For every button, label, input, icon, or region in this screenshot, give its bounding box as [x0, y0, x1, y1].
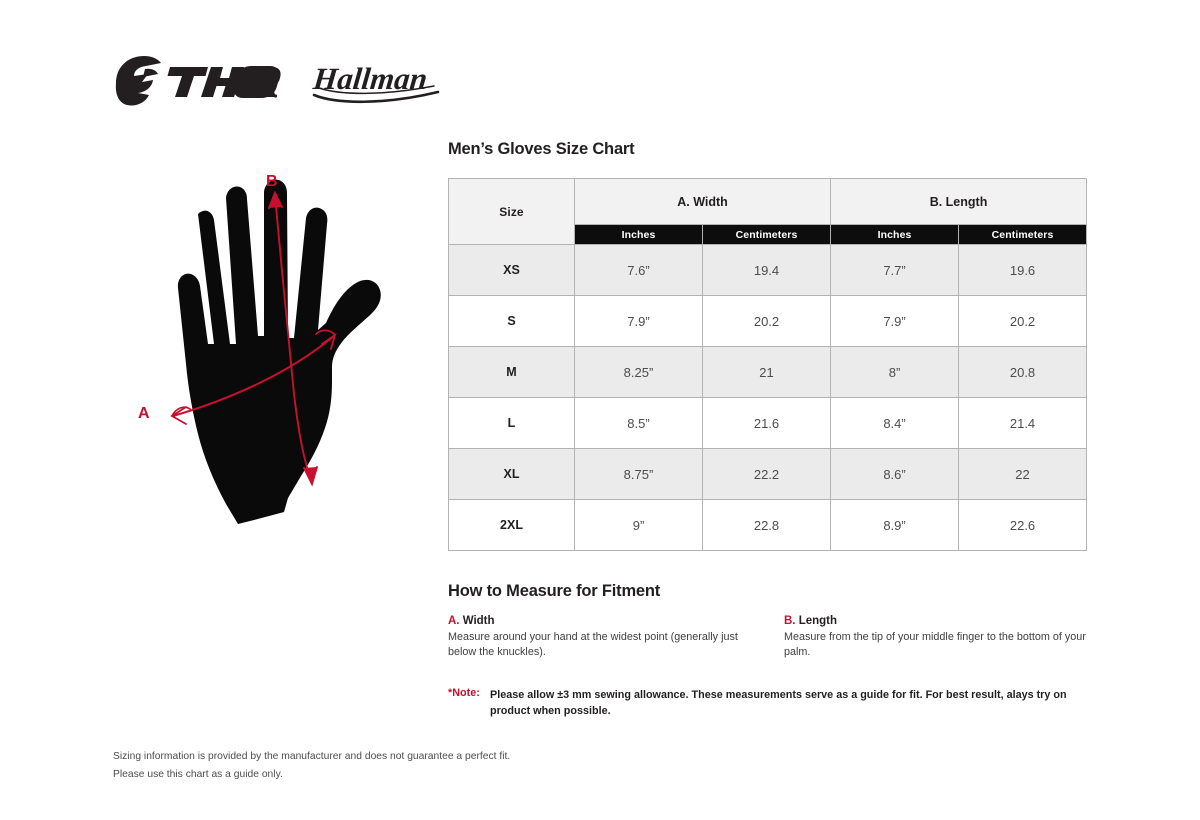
- cell-size: 2XL: [449, 500, 575, 551]
- size-chart-content: Men’s Gloves Size Chart Size A. Width B.…: [448, 140, 1088, 719]
- table-row: XS 7.6” 19.4 7.7” 19.6: [449, 245, 1087, 296]
- measure-name-width: Width: [463, 615, 495, 627]
- column-header-width-centimeters: Centimeters: [703, 225, 831, 245]
- cell-width-centimeters: 22.8: [703, 500, 831, 551]
- column-header-length-centimeters: Centimeters: [959, 225, 1087, 245]
- cell-width-centimeters: 19.4: [703, 245, 831, 296]
- measure-item-heading: B. Length: [784, 615, 1086, 627]
- measure-marker-a: A.: [448, 615, 460, 627]
- cell-width-centimeters: 20.2: [703, 296, 831, 347]
- diagram-label-a: A: [138, 405, 150, 422]
- diagram-label-b: B: [266, 173, 278, 190]
- column-group-header-length: B. Length: [831, 179, 1087, 225]
- cell-length-centimeters: 22: [959, 449, 1087, 500]
- cell-length-centimeters: 22.6: [959, 500, 1087, 551]
- table-row: S 7.9” 20.2 7.9” 20.2: [449, 296, 1087, 347]
- hand-measurement-diagram: A B: [118, 168, 430, 536]
- footer-disclaimer: Sizing information is provided by the ma…: [113, 748, 673, 783]
- cell-length-centimeters: 19.6: [959, 245, 1087, 296]
- hand-silhouette: [178, 180, 381, 524]
- brand-logo-bar: Hallman: [112, 50, 512, 112]
- footer-line-1: Sizing information is provided by the ma…: [113, 748, 673, 766]
- table-row: 2XL 9” 22.8 8.9” 22.6: [449, 500, 1087, 551]
- table-row: M 8.25” 21 8” 20.8: [449, 347, 1087, 398]
- cell-length-centimeters: 20.2: [959, 296, 1087, 347]
- measure-description-length: Measure from the tip of your middle fing…: [784, 630, 1086, 661]
- cell-length-inches: 8.4”: [831, 398, 959, 449]
- thor-helmet-icon: [112, 53, 288, 109]
- cell-length-centimeters: 21.4: [959, 398, 1087, 449]
- table-row: XL 8.75” 22.2 8.6” 22: [449, 449, 1087, 500]
- how-to-measure-section: How to Measure for Fitment A. Width Meas…: [448, 582, 1088, 661]
- hallman-logo: Hallman: [310, 53, 446, 109]
- cell-length-inches: 8”: [831, 347, 959, 398]
- cell-size: M: [449, 347, 575, 398]
- table-row: L 8.5” 21.6 8.4” 21.4: [449, 398, 1087, 449]
- note-text: Please allow ±3 mm sewing allowance. The…: [490, 687, 1078, 719]
- cell-width-inches: 8.5”: [575, 398, 703, 449]
- measure-item-width: A. Width Measure around your hand at the…: [448, 615, 784, 661]
- cell-size: L: [449, 398, 575, 449]
- measure-marker-b: B.: [784, 615, 796, 627]
- measure-item-length: B. Length Measure from the tip of your m…: [784, 615, 1086, 661]
- measure-description-width: Measure around your hand at the widest p…: [448, 630, 752, 661]
- cell-length-inches: 8.6”: [831, 449, 959, 500]
- note-section: *Note: Please allow ±3 mm sewing allowan…: [448, 687, 1088, 719]
- measure-item-heading: A. Width: [448, 615, 752, 627]
- cell-width-centimeters: 22.2: [703, 449, 831, 500]
- column-header-length-inches: Inches: [831, 225, 959, 245]
- page-title: Men’s Gloves Size Chart: [448, 140, 1088, 159]
- cell-size: S: [449, 296, 575, 347]
- cell-width-inches: 7.6”: [575, 245, 703, 296]
- thor-logo: [112, 53, 288, 109]
- measure-name-length: Length: [799, 615, 837, 627]
- column-group-header-width: A. Width: [575, 179, 831, 225]
- how-to-measure-title: How to Measure for Fitment: [448, 582, 1088, 601]
- cell-size: XL: [449, 449, 575, 500]
- cell-width-inches: 9”: [575, 500, 703, 551]
- cell-length-inches: 7.7”: [831, 245, 959, 296]
- cell-size: XS: [449, 245, 575, 296]
- table-header-group-row: Size A. Width B. Length: [449, 179, 1087, 225]
- cell-width-centimeters: 21.6: [703, 398, 831, 449]
- cell-length-inches: 7.9”: [831, 296, 959, 347]
- footer-line-2: Please use this chart as a guide only.: [113, 766, 673, 784]
- size-chart-table: Size A. Width B. Length Inches Centimete…: [448, 178, 1087, 551]
- cell-width-inches: 7.9”: [575, 296, 703, 347]
- column-header-width-inches: Inches: [575, 225, 703, 245]
- note-label: *Note:: [448, 687, 490, 700]
- cell-width-centimeters: 21: [703, 347, 831, 398]
- cell-width-inches: 8.75”: [575, 449, 703, 500]
- cell-length-inches: 8.9”: [831, 500, 959, 551]
- cell-width-inches: 8.25”: [575, 347, 703, 398]
- cell-length-centimeters: 20.8: [959, 347, 1087, 398]
- column-header-size: Size: [449, 179, 575, 245]
